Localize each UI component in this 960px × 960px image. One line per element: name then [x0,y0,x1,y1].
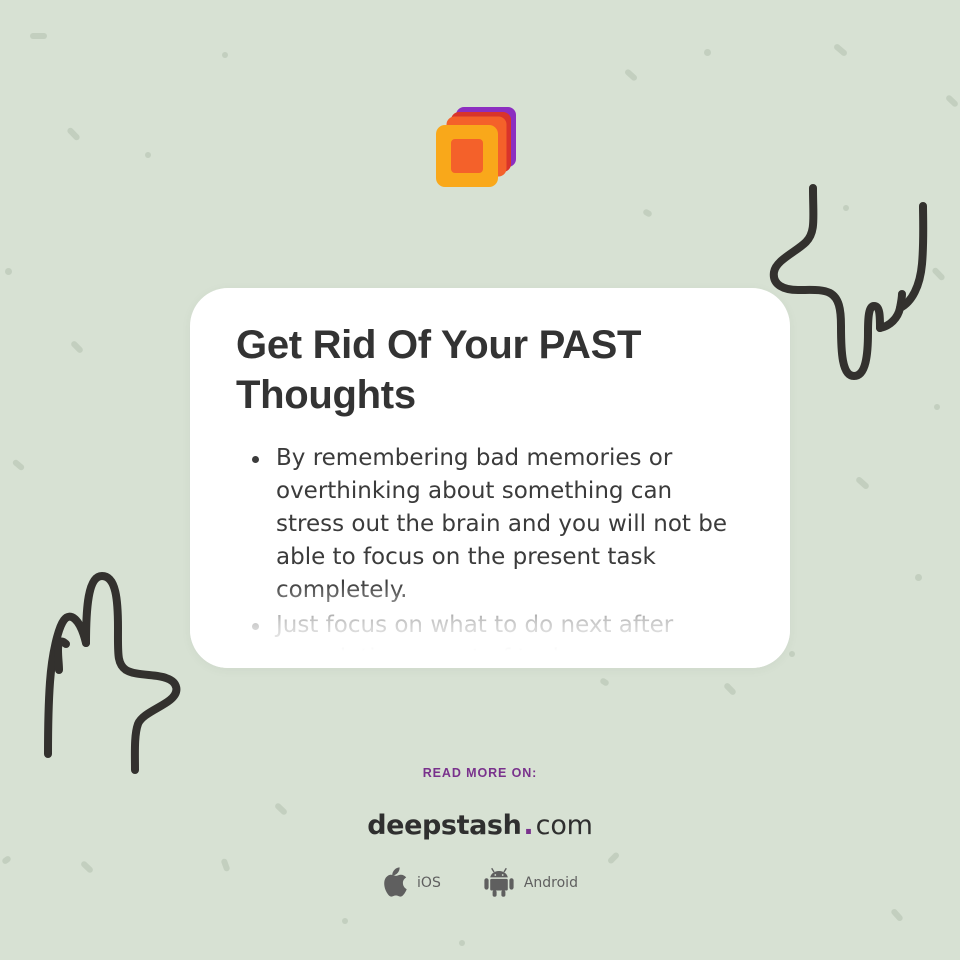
wordmark-dot: . [521,810,535,841]
poster-canvas: Get Rid Of Your PAST Thoughts By remembe… [0,0,960,960]
confetti-dash [459,940,465,946]
confetti-dash [642,208,653,218]
confetti-dash [945,94,959,108]
deepstash-wordmark[interactable]: deepstash.com [0,810,960,841]
confetti-dash [599,677,610,687]
confetti-dash [704,49,711,56]
confetti-dash [5,268,12,275]
list-item: Just focus on what to do next after comp… [276,609,746,668]
ios-label: iOS [417,875,441,891]
confetti-dash [12,459,26,472]
confetti-dash [624,68,638,82]
android-label: Android [524,875,578,891]
confetti-dash [145,152,151,158]
list-item: By remembering bad memories or overthink… [276,442,746,607]
deepstash-logo [424,99,524,199]
page-title: Get Rid Of Your PAST Thoughts [236,320,676,420]
confetti-dash [915,574,922,581]
idea-card: Get Rid Of Your PAST Thoughts By remembe… [190,288,790,668]
store-badges: iOS [0,867,960,898]
pointing-hand-up-icon [22,558,200,778]
confetti-dash [934,404,940,410]
confetti-dash [931,267,946,282]
android-store-badge[interactable]: Android [483,867,578,898]
bullet-list: By remembering bad memories or overthink… [236,442,746,668]
footer: READ MORE ON: deepstash.com iOS [0,766,960,898]
android-icon [483,867,515,898]
confetti-dash [222,52,228,58]
card-content: Get Rid Of Your PAST Thoughts By remembe… [190,288,790,668]
confetti-dash [30,33,47,39]
wordmark-name: deepstash [367,810,521,841]
confetti-dash [843,205,849,211]
read-more-label: READ MORE ON: [0,766,960,780]
apple-icon [382,867,408,898]
confetti-dash [723,682,737,696]
confetti-dash [890,908,904,922]
ios-store-badge[interactable]: iOS [382,867,441,898]
confetti-dash [70,340,84,354]
confetti-dash [66,127,81,142]
confetti-dash [342,918,348,924]
confetti-dash [855,476,870,490]
wordmark-tld: com [536,810,593,841]
confetti-dash [833,43,848,57]
